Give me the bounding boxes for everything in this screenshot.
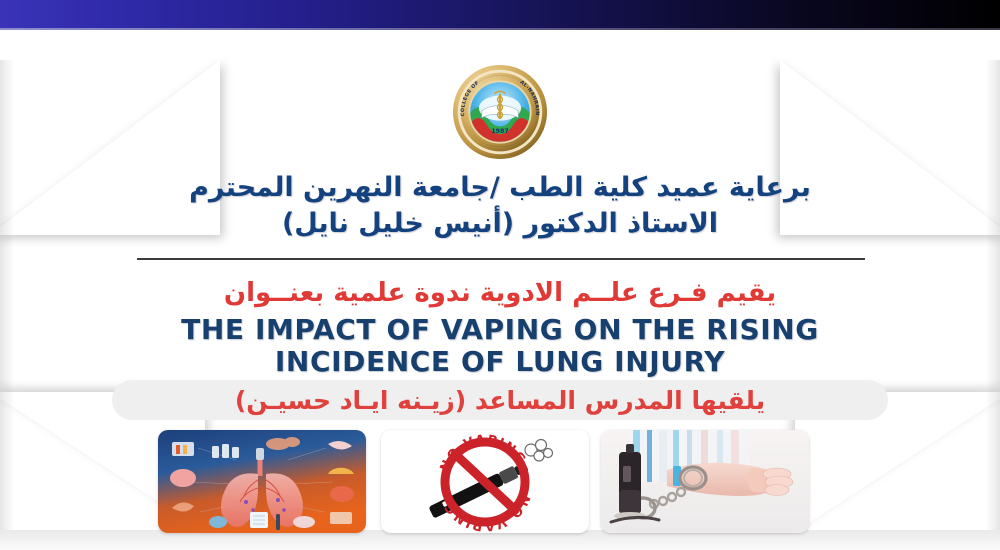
seminar-poster: 1987 COLLEGE OF MEDICINE AL-NAHRAIN UNIV… — [0, 0, 1000, 550]
header-divider — [137, 258, 865, 260]
university-emblem-logo: 1987 COLLEGE OF MEDICINE AL-NAHRAIN UNIV… — [452, 64, 548, 160]
top-gradient-banner — [0, 0, 1000, 28]
patronage-line-1: برعاية عميد كلية الطب /جامعة النهرين الم… — [0, 172, 1000, 203]
lung-infographic-svg — [158, 430, 366, 533]
no-vaping-sign: NO VAPING NO VAPING — [381, 430, 589, 533]
handcuffs-photo-svg — [601, 430, 809, 533]
banner-white-gap — [0, 30, 1000, 62]
seminar-title-line-2: INCIDENCE OF LUNG INJURY — [0, 345, 1000, 378]
seminar-title-line-1: THE IMPACT OF VAPING ON THE RISING — [0, 313, 1000, 346]
vape-addiction-handcuffs-photo — [601, 430, 809, 533]
patronage-line-2: الاستاذ الدكتور (أنيس خليل نايل) — [0, 208, 1000, 239]
speaker-pill: يلقيها المدرس المساعد (زيـنه ايـاد حسيـن… — [112, 380, 888, 420]
announcement-line: يقيم فـرع علــم الادوية ندوة علمية بعنــ… — [0, 278, 1000, 308]
emblem-svg: 1987 COLLEGE OF MEDICINE AL-NAHRAIN UNIV… — [452, 64, 548, 160]
speaker-name-text: يلقيها المدرس المساعد (زيـنه ايـاد حسيـن… — [235, 388, 765, 413]
image-row: NO VAPING NO VAPING — [0, 430, 1000, 535]
emblem-year: 1987 — [491, 128, 508, 135]
lung-damage-infographic — [158, 430, 366, 533]
no-vaping-svg: NO VAPING NO VAPING — [381, 430, 589, 533]
